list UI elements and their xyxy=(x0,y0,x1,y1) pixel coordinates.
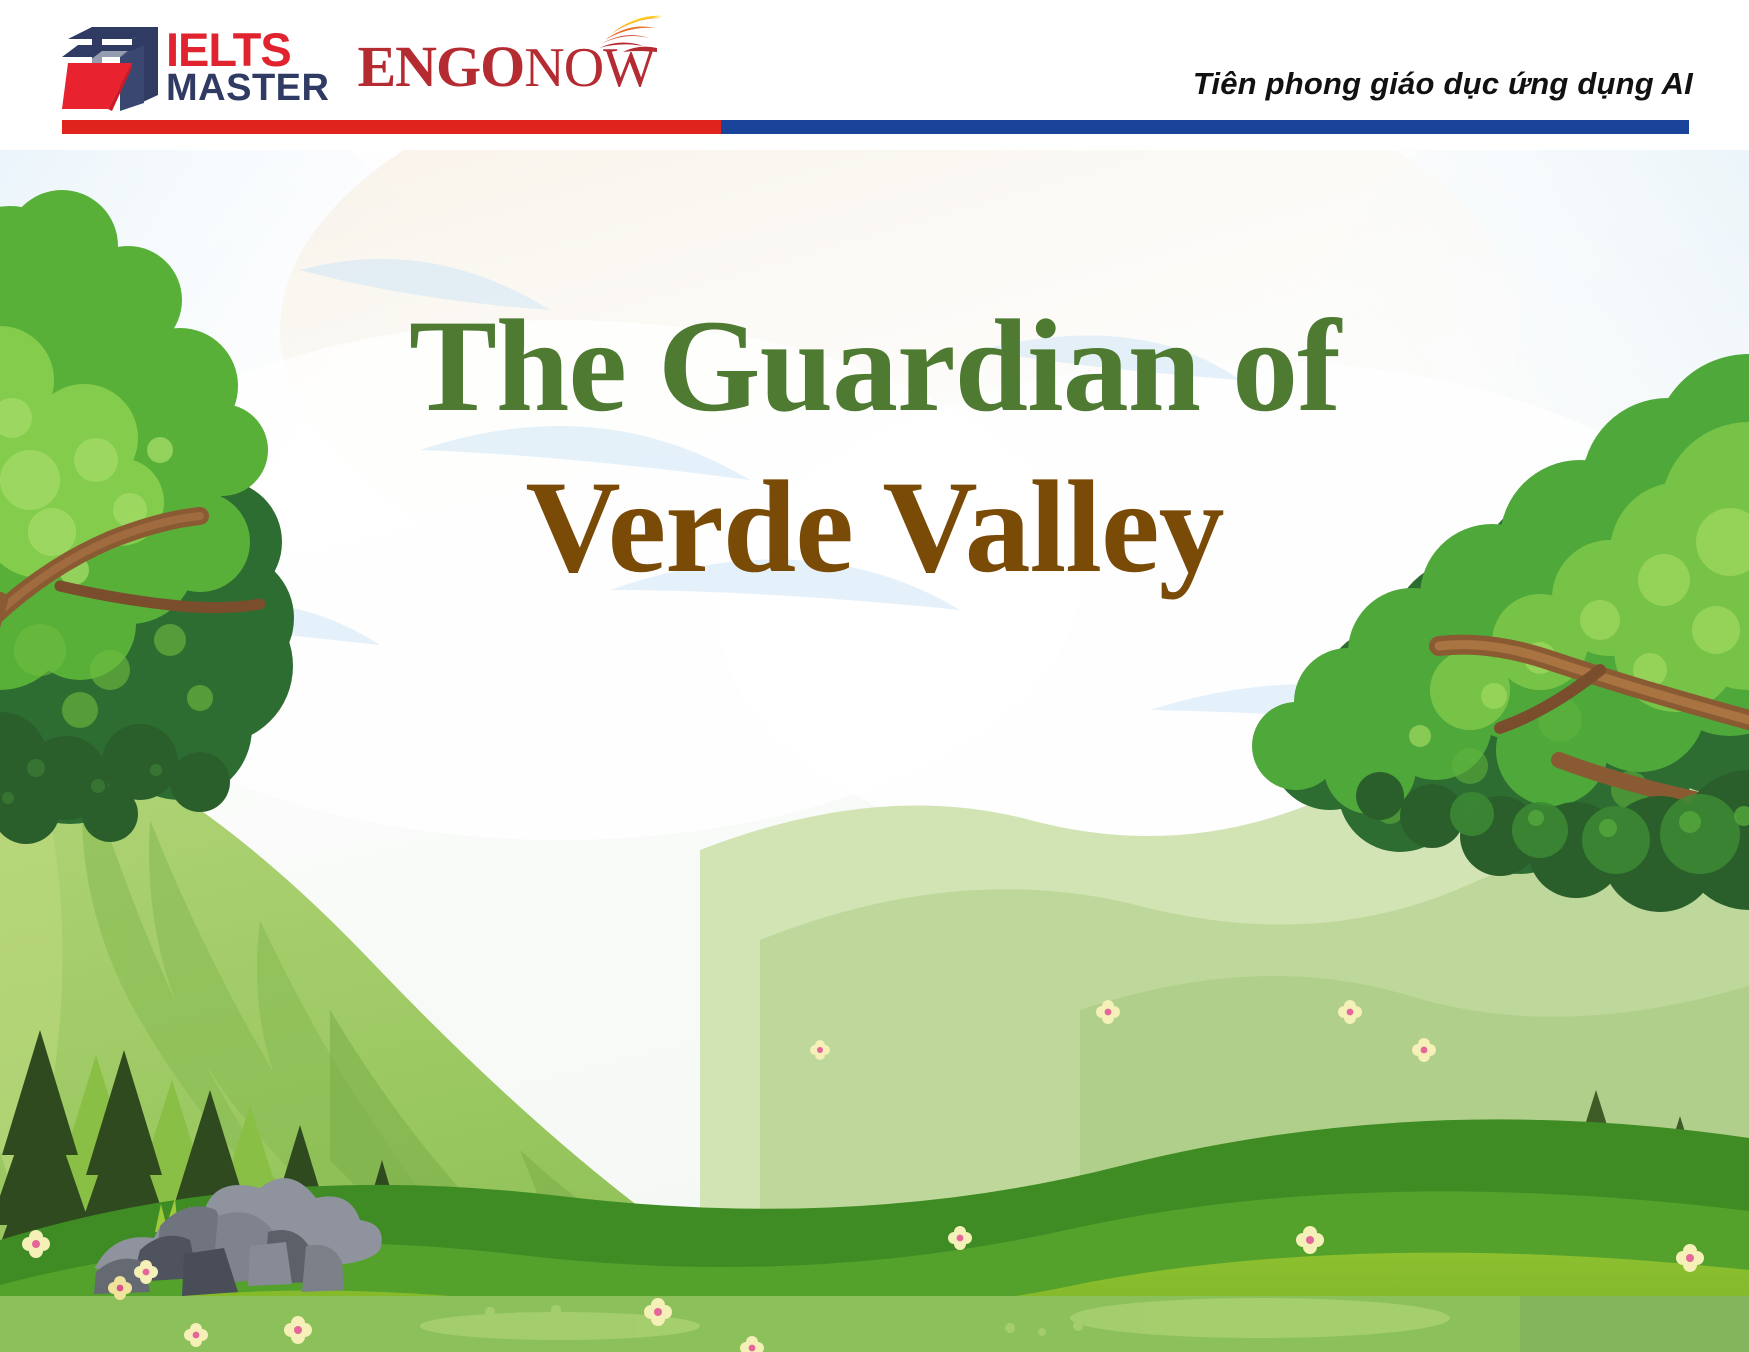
engo-word: ENGO xyxy=(357,38,524,96)
ielts-word: IELTS xyxy=(166,28,329,71)
engonow-wordmark[interactable]: ENGO NOW xyxy=(357,38,655,96)
open-book-flame-icon xyxy=(593,14,665,58)
tagline-text: Tiên phong giáo dục ứng dụng AI xyxy=(1193,66,1693,102)
ielts-master-wordmark: IELTS MASTER xyxy=(166,28,329,106)
slide: The Guardian of Verde Valley IELTS xyxy=(0,0,1749,1352)
divider-blue-segment xyxy=(721,120,1689,134)
header-divider xyxy=(62,120,1689,134)
header-bar: IELTS MASTER ENGO NOW xyxy=(0,0,1749,150)
logo-group[interactable]: IELTS MASTER ENGO NOW xyxy=(62,22,655,112)
scene-illustration xyxy=(0,150,1749,1352)
divider-red-segment xyxy=(62,120,721,134)
bottom-strip-shadow xyxy=(1520,1296,1749,1352)
master-word: MASTER xyxy=(166,71,329,106)
meadow-bottom-strip xyxy=(0,1296,1749,1352)
ielts-master-book-icon xyxy=(62,23,162,111)
